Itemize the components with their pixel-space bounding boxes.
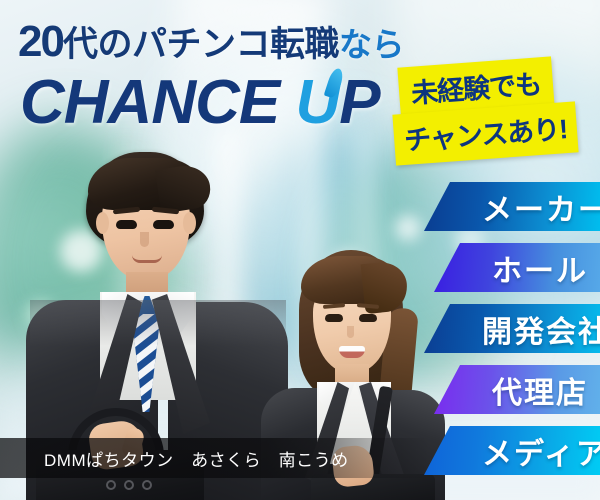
caption-text: DMMぱちタウン あさくら 南こうめ bbox=[44, 446, 349, 471]
category-item-media[interactable]: メディア bbox=[424, 426, 600, 475]
category-list: メーカー ホール 開発会社 代理店 メディア bbox=[0, 0, 600, 500]
category-label-4: メディア bbox=[482, 429, 600, 473]
advertisement-banner[interactable]: 20代のパチンコ転職なら CHANCE UP 未経験でも チャンスあり! メーカ… bbox=[0, 0, 600, 500]
category-label-0: メーカー bbox=[482, 185, 600, 229]
category-item-maker[interactable]: メーカー bbox=[424, 182, 600, 231]
category-label-2: 開発会社 bbox=[482, 307, 600, 351]
category-item-agency[interactable]: 代理店 bbox=[434, 365, 600, 414]
category-label-1: ホール bbox=[492, 246, 588, 290]
category-item-development-company[interactable]: 開発会社 bbox=[424, 304, 600, 353]
caption-bar: DMMぱちタウン あさくら 南こうめ bbox=[0, 438, 430, 478]
category-item-hall[interactable]: ホール bbox=[434, 243, 600, 292]
category-label-3: 代理店 bbox=[492, 368, 588, 412]
